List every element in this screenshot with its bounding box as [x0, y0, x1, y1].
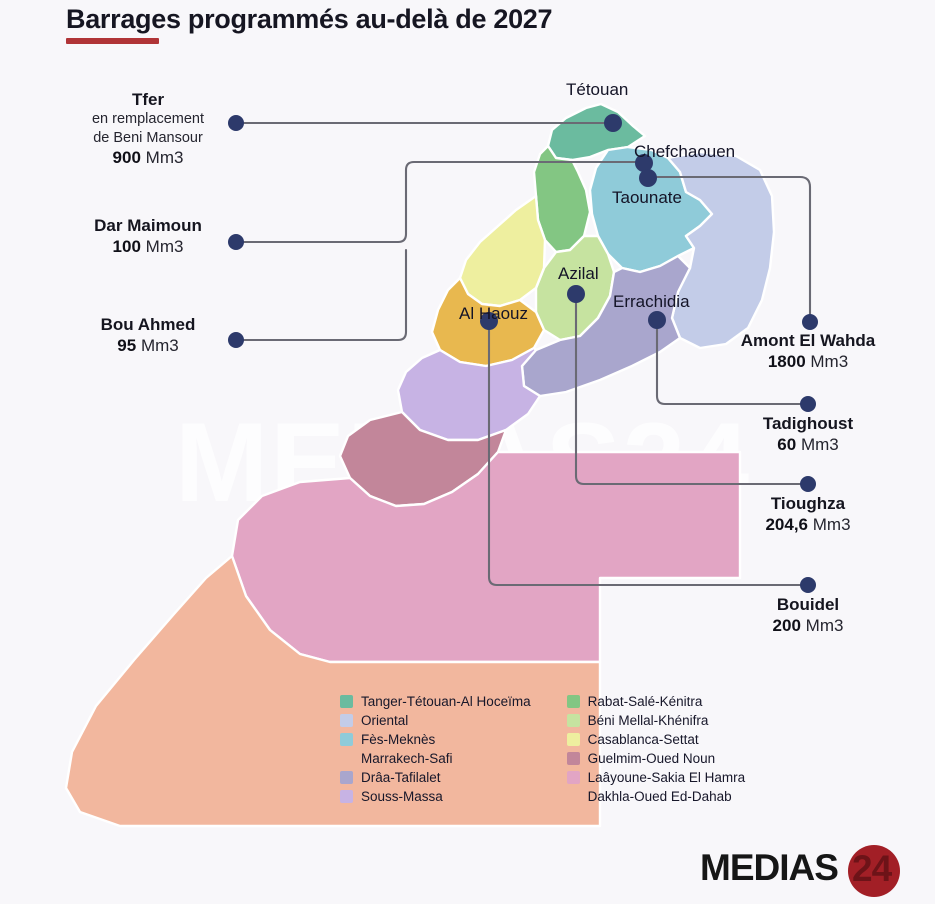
callout-bouidel-name: Bouidel: [718, 594, 898, 615]
callout-tioughza-value: 204,6: [765, 515, 808, 534]
legend-label: Dakhla-Oued Ed-Dahab: [588, 789, 732, 804]
city-label-al-haouz: Al Haouz: [459, 304, 528, 324]
city-label-taounate: Taounate: [612, 188, 682, 208]
callout-dot-bou-ahmed: [228, 332, 244, 348]
legend-swatch: [567, 752, 580, 765]
callout-tfer-unit: Mm3: [146, 148, 184, 167]
legend-label: Laâyoune-Sakia El Hamra: [588, 770, 746, 785]
legend-label: Souss-Massa: [361, 789, 443, 804]
callout-bou-ahmed-name: Bou Ahmed: [68, 314, 228, 335]
callout-tfer-sub1: en remplacement: [68, 110, 228, 128]
callout-tioughza-volume: 204,6 Mm3: [718, 514, 898, 535]
legend: Tanger-Tétouan-Al Hoceïma Oriental Fès-M…: [340, 694, 745, 804]
map-dot-tetouan: [604, 114, 622, 132]
callout-tioughza: Tioughza 204,6 Mm3: [718, 493, 898, 536]
legend-label: Rabat-Salé-Kénitra: [588, 694, 703, 709]
callout-tfer-name: Tfer: [68, 89, 228, 110]
legend-column-right: Rabat-Salé-Kénitra Béni Mellal-Khénifra …: [567, 694, 746, 804]
legend-column-left: Tanger-Tétouan-Al Hoceïma Oriental Fès-M…: [340, 694, 531, 804]
callout-tadighoust: Tadighoust 60 Mm3: [718, 413, 898, 456]
legend-item: Guelmim-Oued Noun: [567, 751, 746, 766]
callout-dot-amont-el-wahda: [802, 314, 818, 330]
callout-dot-tfer: [228, 115, 244, 131]
legend-swatch: [340, 771, 353, 784]
callout-bouidel: Bouidel 200 Mm3: [718, 594, 898, 637]
callout-tadighoust-volume: 60 Mm3: [718, 434, 898, 455]
callout-bouidel-volume: 200 Mm3: [718, 615, 898, 636]
legend-swatch: [340, 733, 353, 746]
callout-tfer-value: 900: [113, 148, 141, 167]
callout-amont-el-wahda-volume: 1800 Mm3: [718, 351, 898, 372]
legend-label: Fès-Meknès: [361, 732, 435, 747]
callout-tfer: Tfer en remplacement de Beni Mansour 900…: [68, 89, 228, 168]
legend-swatch: [567, 695, 580, 708]
map-dot-taounate: [639, 169, 657, 187]
callout-tadighoust-name: Tadighoust: [718, 413, 898, 434]
legend-swatch: [567, 733, 580, 746]
city-label-azilal: Azilal: [558, 264, 599, 284]
legend-label: Béni Mellal-Khénifra: [588, 713, 709, 728]
legend-item: Laâyoune-Sakia El Hamra: [567, 770, 746, 785]
callout-tfer-sub2: de Beni Mansour: [68, 129, 228, 147]
callout-dar-maimoun-unit: Mm3: [146, 237, 184, 256]
callout-dar-maimoun: Dar Maimoun 100 Mm3: [68, 215, 228, 258]
city-label-errachidia: Errachidia: [613, 292, 690, 312]
callout-tioughza-unit: Mm3: [813, 515, 851, 534]
legend-swatch: [340, 714, 353, 727]
legend-label: Guelmim-Oued Noun: [588, 751, 716, 766]
callout-amont-el-wahda-unit: Mm3: [810, 352, 848, 371]
map-dot-errachidia: [648, 311, 666, 329]
legend-label: Drâa-Tafilalet: [361, 770, 441, 785]
legend-item: Souss-Massa: [340, 789, 531, 804]
logo-wordmark: MEDIAS: [700, 847, 838, 889]
medias24-logo: MEDIAS 24: [700, 845, 915, 897]
callout-tioughza-name: Tioughza: [718, 493, 898, 514]
legend-label: Oriental: [361, 713, 408, 728]
legend-item: Drâa-Tafilalet: [340, 770, 531, 785]
callout-dar-maimoun-name: Dar Maimoun: [68, 215, 228, 236]
legend-swatch: [567, 714, 580, 727]
callout-dot-tadighoust: [800, 396, 816, 412]
callout-bouidel-unit: Mm3: [806, 616, 844, 635]
legend-swatch: [340, 752, 353, 765]
legend-item: Dakhla-Oued Ed-Dahab: [567, 789, 746, 804]
map-dot-azilal: [567, 285, 585, 303]
legend-swatch: [567, 790, 580, 803]
legend-swatch: [340, 790, 353, 803]
region-casablanca-settat: [460, 196, 545, 306]
legend-item: Fès-Meknès: [340, 732, 531, 747]
callout-amont-el-wahda-value: 1800: [768, 352, 806, 371]
callout-bou-ahmed: Bou Ahmed 95 Mm3: [68, 314, 228, 357]
city-label-tetouan: Tétouan: [566, 80, 628, 100]
callout-dot-dar-maimoun: [228, 234, 244, 250]
legend-item: Rabat-Salé-Kénitra: [567, 694, 746, 709]
legend-item: Tanger-Tétouan-Al Hoceïma: [340, 694, 531, 709]
callout-bou-ahmed-value: 95: [117, 336, 136, 355]
legend-label: Tanger-Tétouan-Al Hoceïma: [361, 694, 531, 709]
callout-dar-maimoun-value: 100: [113, 237, 141, 256]
callout-bou-ahmed-unit: Mm3: [141, 336, 179, 355]
callout-tadighoust-unit: Mm3: [801, 435, 839, 454]
legend-label: Casablanca-Settat: [588, 732, 699, 747]
legend-item: Marrakech-Safi: [340, 751, 531, 766]
legend-swatch: [340, 695, 353, 708]
callout-bou-ahmed-volume: 95 Mm3: [68, 335, 228, 356]
legend-item: Casablanca-Settat: [567, 732, 746, 747]
callout-tfer-volume: 900 Mm3: [68, 147, 228, 168]
legend-label: Marrakech-Safi: [361, 751, 453, 766]
callout-dar-maimoun-volume: 100 Mm3: [68, 236, 228, 257]
callout-bouidel-value: 200: [773, 616, 801, 635]
callout-amont-el-wahda: Amont El Wahda 1800 Mm3: [718, 330, 898, 373]
city-label-chefchaouen: Chefchaouen: [634, 142, 735, 162]
legend-item: Oriental: [340, 713, 531, 728]
connector-trunk-south: [398, 250, 406, 340]
callout-amont-el-wahda-name: Amont El Wahda: [718, 330, 898, 351]
callout-tadighoust-value: 60: [777, 435, 796, 454]
callout-dot-tioughza: [800, 476, 816, 492]
legend-item: Béni Mellal-Khénifra: [567, 713, 746, 728]
logo-number: 24: [852, 848, 891, 890]
callout-dot-bouidel: [800, 577, 816, 593]
legend-swatch: [567, 771, 580, 784]
